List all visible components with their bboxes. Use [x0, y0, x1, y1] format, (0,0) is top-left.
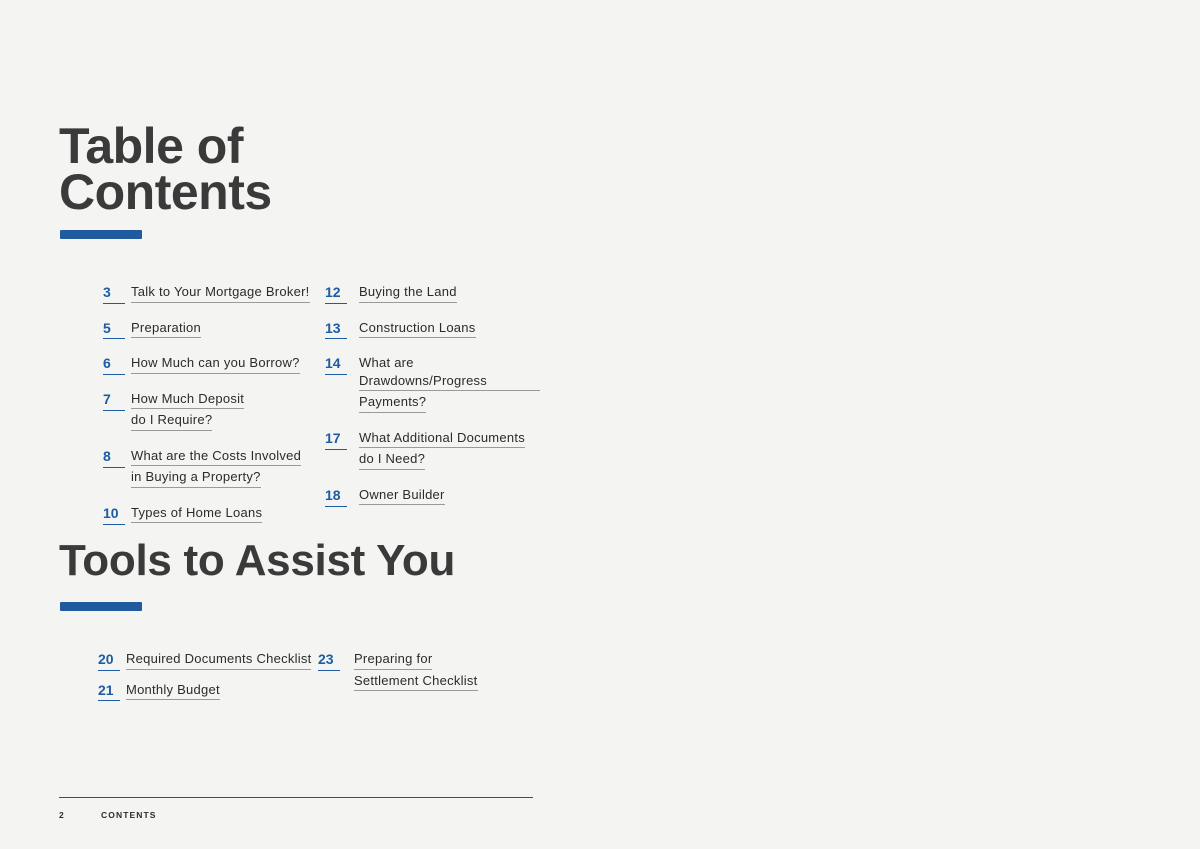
toc-entry-page-number-wrap: 13 — [325, 319, 359, 340]
toc-entry-page-number: 12 — [325, 283, 347, 304]
toc-entry-label: Required Documents Checklist — [126, 650, 313, 672]
toc-entry-label-line: What are Drawdowns/Progress — [359, 354, 540, 391]
toc-entry-label: Monthly Budget — [126, 681, 313, 703]
footer-left: 2 CONTENTS — [59, 810, 533, 820]
toc-entry-page-number-wrap: 10 — [103, 504, 131, 525]
toc-entry-label: Construction Loans — [359, 319, 540, 341]
toc-column-1: 3Talk to Your Mortgage Broker!5Preparati… — [103, 283, 313, 539]
toc-entry-page-number: 3 — [103, 283, 125, 304]
document-spread: Table of Contents 3Talk to Your Mortgage… — [0, 0, 1200, 849]
toc-entry[interactable]: 7How Much Depositdo I Require? — [103, 390, 313, 433]
toc-entry-page-number-wrap: 7 — [103, 390, 131, 411]
toc-entry[interactable]: 10Types of Home Loans — [103, 504, 313, 526]
toc-entry-label-line: Types of Home Loans — [131, 504, 262, 524]
toc-entry[interactable]: 17What Additional Documentsdo I Need? — [325, 429, 540, 472]
toc-entry-label-line: Talk to Your Mortgage Broker! — [131, 283, 310, 303]
toc-entry-page-number-wrap: 18 — [325, 486, 359, 507]
toc-entry-page-number: 17 — [325, 429, 347, 450]
toc-entry[interactable]: 3Talk to Your Mortgage Broker! — [103, 283, 313, 305]
toc-entry-label: Preparing forSettlement Checklist — [354, 650, 518, 693]
page-title: Table of Contents — [59, 123, 479, 215]
toc-entry-label: Talk to Your Mortgage Broker! — [131, 283, 313, 305]
toc-entry[interactable]: 12Buying the Land — [325, 283, 540, 305]
toc-entry-page-number: 18 — [325, 486, 347, 507]
right-page: The Borrowers Guide to Construction Loan… — [600, 0, 1200, 849]
toc-entry-label: What are the Costs Involvedin Buying a P… — [131, 447, 313, 490]
toc-entry-page-number: 5 — [103, 319, 125, 340]
toc-entry-label: Types of Home Loans — [131, 504, 313, 526]
toc-entry-page-number-wrap: 14 — [325, 354, 359, 375]
footer-label-left: CONTENTS — [101, 810, 157, 820]
toc-entry[interactable]: 6How Much can you Borrow? — [103, 354, 313, 376]
toc-entry-page-number: 8 — [103, 447, 125, 468]
toc-entry[interactable]: 5Preparation — [103, 319, 313, 341]
toc-entry[interactable]: 8What are the Costs Involvedin Buying a … — [103, 447, 313, 490]
toc-entry-label-line: do I Need? — [359, 450, 425, 470]
toc-entry-page-number-wrap: 21 — [98, 681, 126, 702]
toc-entry-page-number-wrap: 5 — [103, 319, 131, 340]
toc-entry-label-line: Settlement Checklist — [354, 672, 478, 692]
toc-entry-page-number-wrap: 3 — [103, 283, 131, 304]
accent-bar-tools — [60, 602, 142, 611]
toc-entry-label-line: Preparation — [131, 319, 201, 339]
toc-entry-label: How Much can you Borrow? — [131, 354, 313, 376]
toc-entry-page-number: 7 — [103, 390, 125, 411]
page-title-line2: Contents — [59, 169, 479, 215]
toc-entry-page-number-wrap: 12 — [325, 283, 359, 304]
toc-entry-label: Preparation — [131, 319, 313, 341]
toc-entry-label-line: Payments? — [359, 393, 426, 413]
toc-entry-label: Buying the Land — [359, 283, 540, 305]
toc-entry-label: What Additional Documentsdo I Need? — [359, 429, 540, 472]
toc-entry-page-number: 23 — [318, 650, 340, 671]
toc-entry-label-line: in Buying a Property? — [131, 468, 261, 488]
toc-column-2: 12Buying the Land13Construction Loans14W… — [325, 283, 540, 521]
toc-entry-page-number: 14 — [325, 354, 347, 375]
toc-entry-label-line: Required Documents Checklist — [126, 650, 311, 670]
toc-entry-label-line: Buying the Land — [359, 283, 457, 303]
toc-entry-page-number: 10 — [103, 504, 125, 525]
toc-entry[interactable]: 13Construction Loans — [325, 319, 540, 341]
tools-section-title: Tools to Assist You — [59, 536, 455, 586]
toc-entry-page-number-wrap: 8 — [103, 447, 131, 468]
toc-entry-label-line: How Much Deposit — [131, 390, 244, 410]
toc-entry[interactable]: 23Preparing forSettlement Checklist — [318, 650, 518, 693]
toc-entry-page-number: 6 — [103, 354, 125, 375]
toc-entry[interactable]: 20Required Documents Checklist — [98, 650, 313, 672]
toc-entry-label-line: Owner Builder — [359, 486, 445, 506]
tools-column-2: 23Preparing forSettlement Checklist — [318, 650, 518, 702]
toc-entry-label-line: Preparing for — [354, 650, 432, 670]
toc-entry-label: What are Drawdowns/ProgressPayments? — [359, 354, 540, 415]
toc-entry-label: Owner Builder — [359, 486, 540, 508]
toc-entry-label-line: What Additional Documents — [359, 429, 525, 449]
toc-entry-page-number: 13 — [325, 319, 347, 340]
left-page: Table of Contents 3Talk to Your Mortgage… — [0, 0, 600, 849]
toc-entry-label-line: do I Require? — [131, 411, 212, 431]
toc-entry-label-line: Monthly Budget — [126, 681, 220, 701]
toc-entry-page-number: 20 — [98, 650, 120, 671]
footer-divider-left — [59, 797, 533, 798]
toc-entry-label: How Much Depositdo I Require? — [131, 390, 313, 433]
toc-entry-label-line: What are the Costs Involved — [131, 447, 301, 467]
toc-entry[interactable]: 21Monthly Budget — [98, 681, 313, 703]
toc-entry-label-line: Construction Loans — [359, 319, 476, 339]
tools-column-1: 20Required Documents Checklist21Monthly … — [98, 650, 313, 711]
toc-entry[interactable]: 18Owner Builder — [325, 486, 540, 508]
accent-bar-contents — [60, 230, 142, 239]
toc-entry-page-number-wrap: 20 — [98, 650, 126, 671]
toc-entry-label-line: How Much can you Borrow? — [131, 354, 300, 374]
toc-entry-page-number-wrap: 6 — [103, 354, 131, 375]
toc-entry-page-number-wrap: 17 — [325, 429, 359, 450]
toc-entry-page-number-wrap: 23 — [318, 650, 354, 671]
toc-entry[interactable]: 14What are Drawdowns/ProgressPayments? — [325, 354, 540, 415]
footer-page-number-left: 2 — [59, 810, 101, 820]
toc-entry-page-number: 21 — [98, 681, 120, 702]
